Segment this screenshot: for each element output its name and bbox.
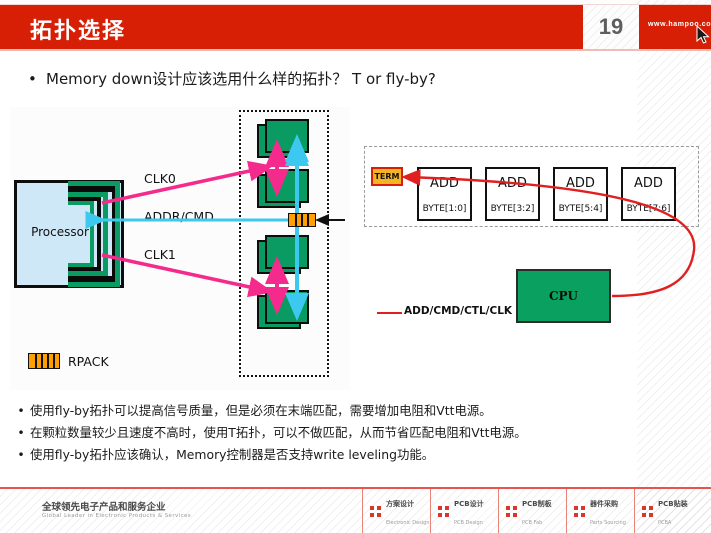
rpack-legend-label: RPACK bbox=[68, 354, 109, 369]
processor-trace-inner bbox=[68, 267, 101, 271]
cpu-box: CPU bbox=[516, 269, 611, 323]
rpack-resistor-inline bbox=[288, 213, 316, 227]
add-module-box: ADD BYTE[1:0] bbox=[417, 167, 472, 221]
term-box: TERM bbox=[371, 167, 403, 186]
processor-trace-green bbox=[68, 282, 120, 287]
slide-canvas: 拓扑选择 19 www.hampoo.com •Memory down设计应该选… bbox=[0, 0, 711, 533]
service-label-en: PCBA bbox=[658, 520, 671, 526]
footer-service-item: PCB设计 PCB Design bbox=[430, 489, 498, 533]
signal-legend-line bbox=[377, 312, 402, 314]
page-number: 19 bbox=[599, 14, 623, 40]
add-module-byte: BYTE[7:6] bbox=[623, 204, 674, 214]
service-label-cn: PCB设计 bbox=[454, 500, 484, 508]
footer-service-item: 器件采购 Parts Sourcing bbox=[566, 489, 634, 533]
memory-chip bbox=[265, 235, 309, 269]
header-underline bbox=[0, 49, 711, 51]
label-clk1: CLK1 bbox=[144, 247, 176, 262]
add-module-byte: BYTE[1:0] bbox=[419, 204, 470, 214]
service-label-cn: PCB制板 bbox=[522, 500, 552, 508]
slide-footer: 全球领先电子产品和服务企业 Global Leader in Electroni… bbox=[0, 489, 711, 533]
summary-bullet-list: • 使用fly-by拓扑可以提高信号质量，但是必须在末端匹配，需要增加电阻和Vt… bbox=[12, 400, 702, 466]
signal-legend-label: ADD/CMD/CTL/CLK bbox=[404, 305, 512, 317]
add-module-byte: BYTE[3:2] bbox=[487, 204, 538, 214]
service-label-en: Electronic Design bbox=[386, 520, 430, 526]
list-item: • 在颗粒数量较少且速度不高时，使用T拓扑，可以不做匹配，从而节省匹配电阻和Vt… bbox=[12, 422, 702, 444]
list-item: • 使用fly-by拓扑应该确认，Memory控制器是否支持write leve… bbox=[12, 444, 702, 466]
crop-frame-icon bbox=[574, 506, 585, 517]
service-label-en: Parts Sourcing bbox=[590, 520, 626, 526]
mouse-cursor-icon bbox=[697, 26, 711, 46]
term-label: TERM bbox=[374, 172, 399, 181]
crop-frame-icon bbox=[506, 506, 517, 517]
bullet-marker: • bbox=[12, 444, 30, 466]
crop-frame-icon bbox=[438, 506, 449, 517]
processor-label: Processor bbox=[17, 225, 103, 239]
memory-chip bbox=[265, 290, 309, 324]
add-module-title: ADD bbox=[487, 176, 538, 191]
label-clk0: CLK0 bbox=[144, 171, 176, 186]
company-tagline-cn: 全球领先电子产品和服务企业 bbox=[42, 499, 166, 513]
add-module-title: ADD bbox=[419, 176, 470, 191]
crop-frame-icon bbox=[642, 506, 653, 517]
processor-trace-green bbox=[103, 192, 108, 276]
company-tagline-en: Global Leader in Electronic Products & S… bbox=[42, 513, 191, 519]
add-module-box: ADD BYTE[3:2] bbox=[485, 167, 540, 221]
add-module-title: ADD bbox=[623, 176, 674, 191]
list-item: • 使用fly-by拓扑可以提高信号质量，但是必须在末端匹配，需要增加电阻和Vt… bbox=[12, 400, 702, 422]
page-title: 拓扑选择 bbox=[30, 13, 126, 45]
page-number-badge: 19 bbox=[583, 5, 639, 49]
cpu-label: CPU bbox=[549, 289, 578, 303]
processor-trace-green bbox=[68, 271, 108, 276]
processor-trace-green bbox=[68, 181, 120, 186]
service-label-en: PCB Design bbox=[454, 520, 483, 526]
memory-chip bbox=[265, 119, 309, 153]
add-module-box: ADD BYTE[5:4] bbox=[553, 167, 608, 221]
main-question-text: Memory down设计应该选用什么样的拓扑？ T or fly-by? bbox=[46, 70, 436, 88]
slide-header: 拓扑选择 19 www.hampoo.com bbox=[0, 5, 711, 49]
rpack-legend-icon bbox=[28, 353, 60, 369]
bullet-marker: • bbox=[12, 400, 30, 422]
processor-trace-green bbox=[115, 181, 120, 287]
main-question-line: •Memory down设计应该选用什么样的拓扑？ T or fly-by? bbox=[28, 68, 436, 89]
label-addr-cmd: ADDR/CMD bbox=[144, 209, 214, 224]
bullet-text: 使用fly-by拓扑应该确认，Memory控制器是否支持write leveli… bbox=[30, 444, 434, 466]
bullet-text: 使用fly-by拓扑可以提高信号质量，但是必须在末端匹配，需要增加电阻和Vtt电… bbox=[30, 400, 492, 422]
service-label-cn: 器件采购 bbox=[590, 500, 618, 508]
add-module-title: ADD bbox=[555, 176, 606, 191]
service-label-cn: PCB贴装 bbox=[658, 500, 688, 508]
footer-service-item: PCB制板 PCB Fab bbox=[498, 489, 566, 533]
service-label-en: PCB Fab bbox=[522, 520, 542, 526]
bullet-text: 在颗粒数量较少且速度不高时，使用T拓扑，可以不做匹配，从而节省匹配电阻和Vtt电… bbox=[30, 422, 527, 444]
bullet-marker: • bbox=[28, 70, 46, 88]
footer-service-item: PCB贴装 PCBA bbox=[634, 489, 704, 533]
add-module-byte: BYTE[5:4] bbox=[555, 204, 606, 214]
bullet-marker: • bbox=[12, 422, 30, 444]
add-module-box: ADD BYTE[7:6] bbox=[621, 167, 676, 221]
service-label-cn: 方案设计 bbox=[386, 500, 414, 508]
processor-trace-stub bbox=[68, 263, 94, 267]
crop-frame-icon bbox=[370, 506, 381, 517]
memory-chip bbox=[265, 169, 309, 203]
footer-service-item: 方案设计 Electronic Design bbox=[362, 489, 430, 533]
